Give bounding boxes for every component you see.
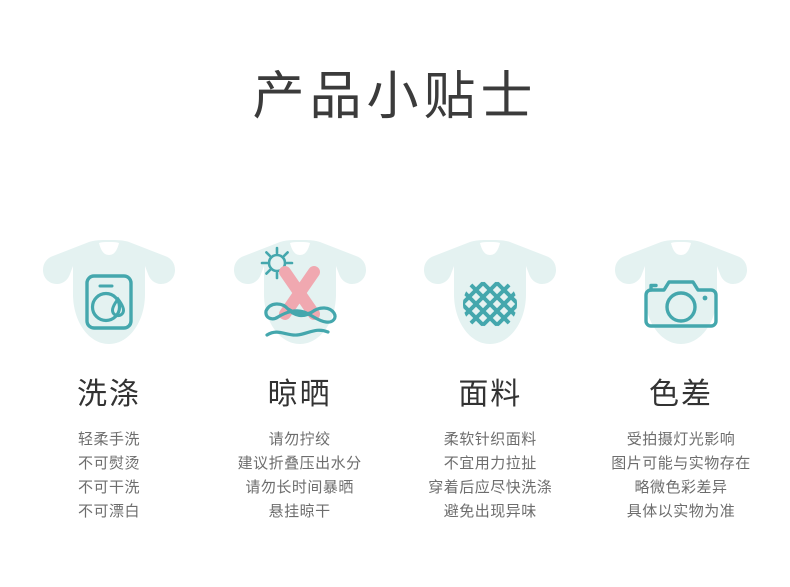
tip-line: 柔软针织面料 [444, 428, 537, 452]
washing-machine-icon [39, 232, 179, 364]
tips-columns: 洗涤 轻柔手洗 不可熨烫 不可干洗 不可漂白 [0, 232, 790, 524]
tip-line: 受拍摄灯光影响 [627, 428, 736, 452]
tip-heading: 洗涤 [77, 376, 141, 414]
tip-line: 建议折叠压出水分 [238, 452, 362, 476]
tip-line: 悬挂晾干 [269, 500, 331, 524]
tip-heading: 晾晒 [268, 376, 332, 414]
tip-line: 不可干洗 [78, 476, 140, 500]
tip-line: 请勿长时间暴晒 [245, 476, 354, 500]
tip-line: 请勿拧绞 [269, 428, 331, 452]
camera-icon [611, 232, 751, 364]
tip-lines: 请勿拧绞 建议折叠压出水分 请勿长时间暴晒 悬挂晾干 [238, 428, 362, 524]
tip-line: 避免出现异味 [444, 500, 537, 524]
tip-column-fabric: 面料 柔软针织面料 不宜用力拉扯 穿着后应尽快洗涤 避免出现异味 [399, 232, 581, 524]
tip-heading: 色差 [649, 376, 713, 414]
tip-line: 不可熨烫 [78, 452, 140, 476]
tip-lines: 受拍摄灯光影响 图片可能与实物存在 略微色彩差异 具体以实物为准 [611, 428, 751, 524]
tip-line: 不可漂白 [78, 500, 140, 524]
tip-column-drying: 晾晒 请勿拧绞 建议折叠压出水分 请勿长时间暴晒 悬挂晾干 [209, 232, 391, 524]
tip-column-washing: 洗涤 轻柔手洗 不可熨烫 不可干洗 不可漂白 [18, 232, 200, 524]
product-tips-infographic: 产品小贴士 洗涤 轻柔手洗 不可熨烫 不可干洗 不可漂白 [0, 0, 790, 587]
knit-weave-icon [420, 232, 560, 364]
tip-lines: 轻柔手洗 不可熨烫 不可干洗 不可漂白 [78, 428, 140, 524]
tip-column-color: 色差 受拍摄灯光影响 图片可能与实物存在 略微色彩差异 具体以实物为准 [590, 232, 772, 524]
tip-line: 轻柔手洗 [78, 428, 140, 452]
tip-heading: 面料 [458, 376, 522, 414]
tip-line: 略微色彩差异 [634, 476, 727, 500]
tip-line: 不宜用力拉扯 [444, 452, 537, 476]
no-sun-dry-wring-icon [230, 232, 370, 364]
page-title: 产品小贴士 [0, 66, 790, 128]
tip-line: 穿着后应尽快洗涤 [428, 476, 552, 500]
tip-lines: 柔软针织面料 不宜用力拉扯 穿着后应尽快洗涤 避免出现异味 [428, 428, 552, 524]
tip-line: 图片可能与实物存在 [611, 452, 751, 476]
tip-line: 具体以实物为准 [627, 500, 736, 524]
